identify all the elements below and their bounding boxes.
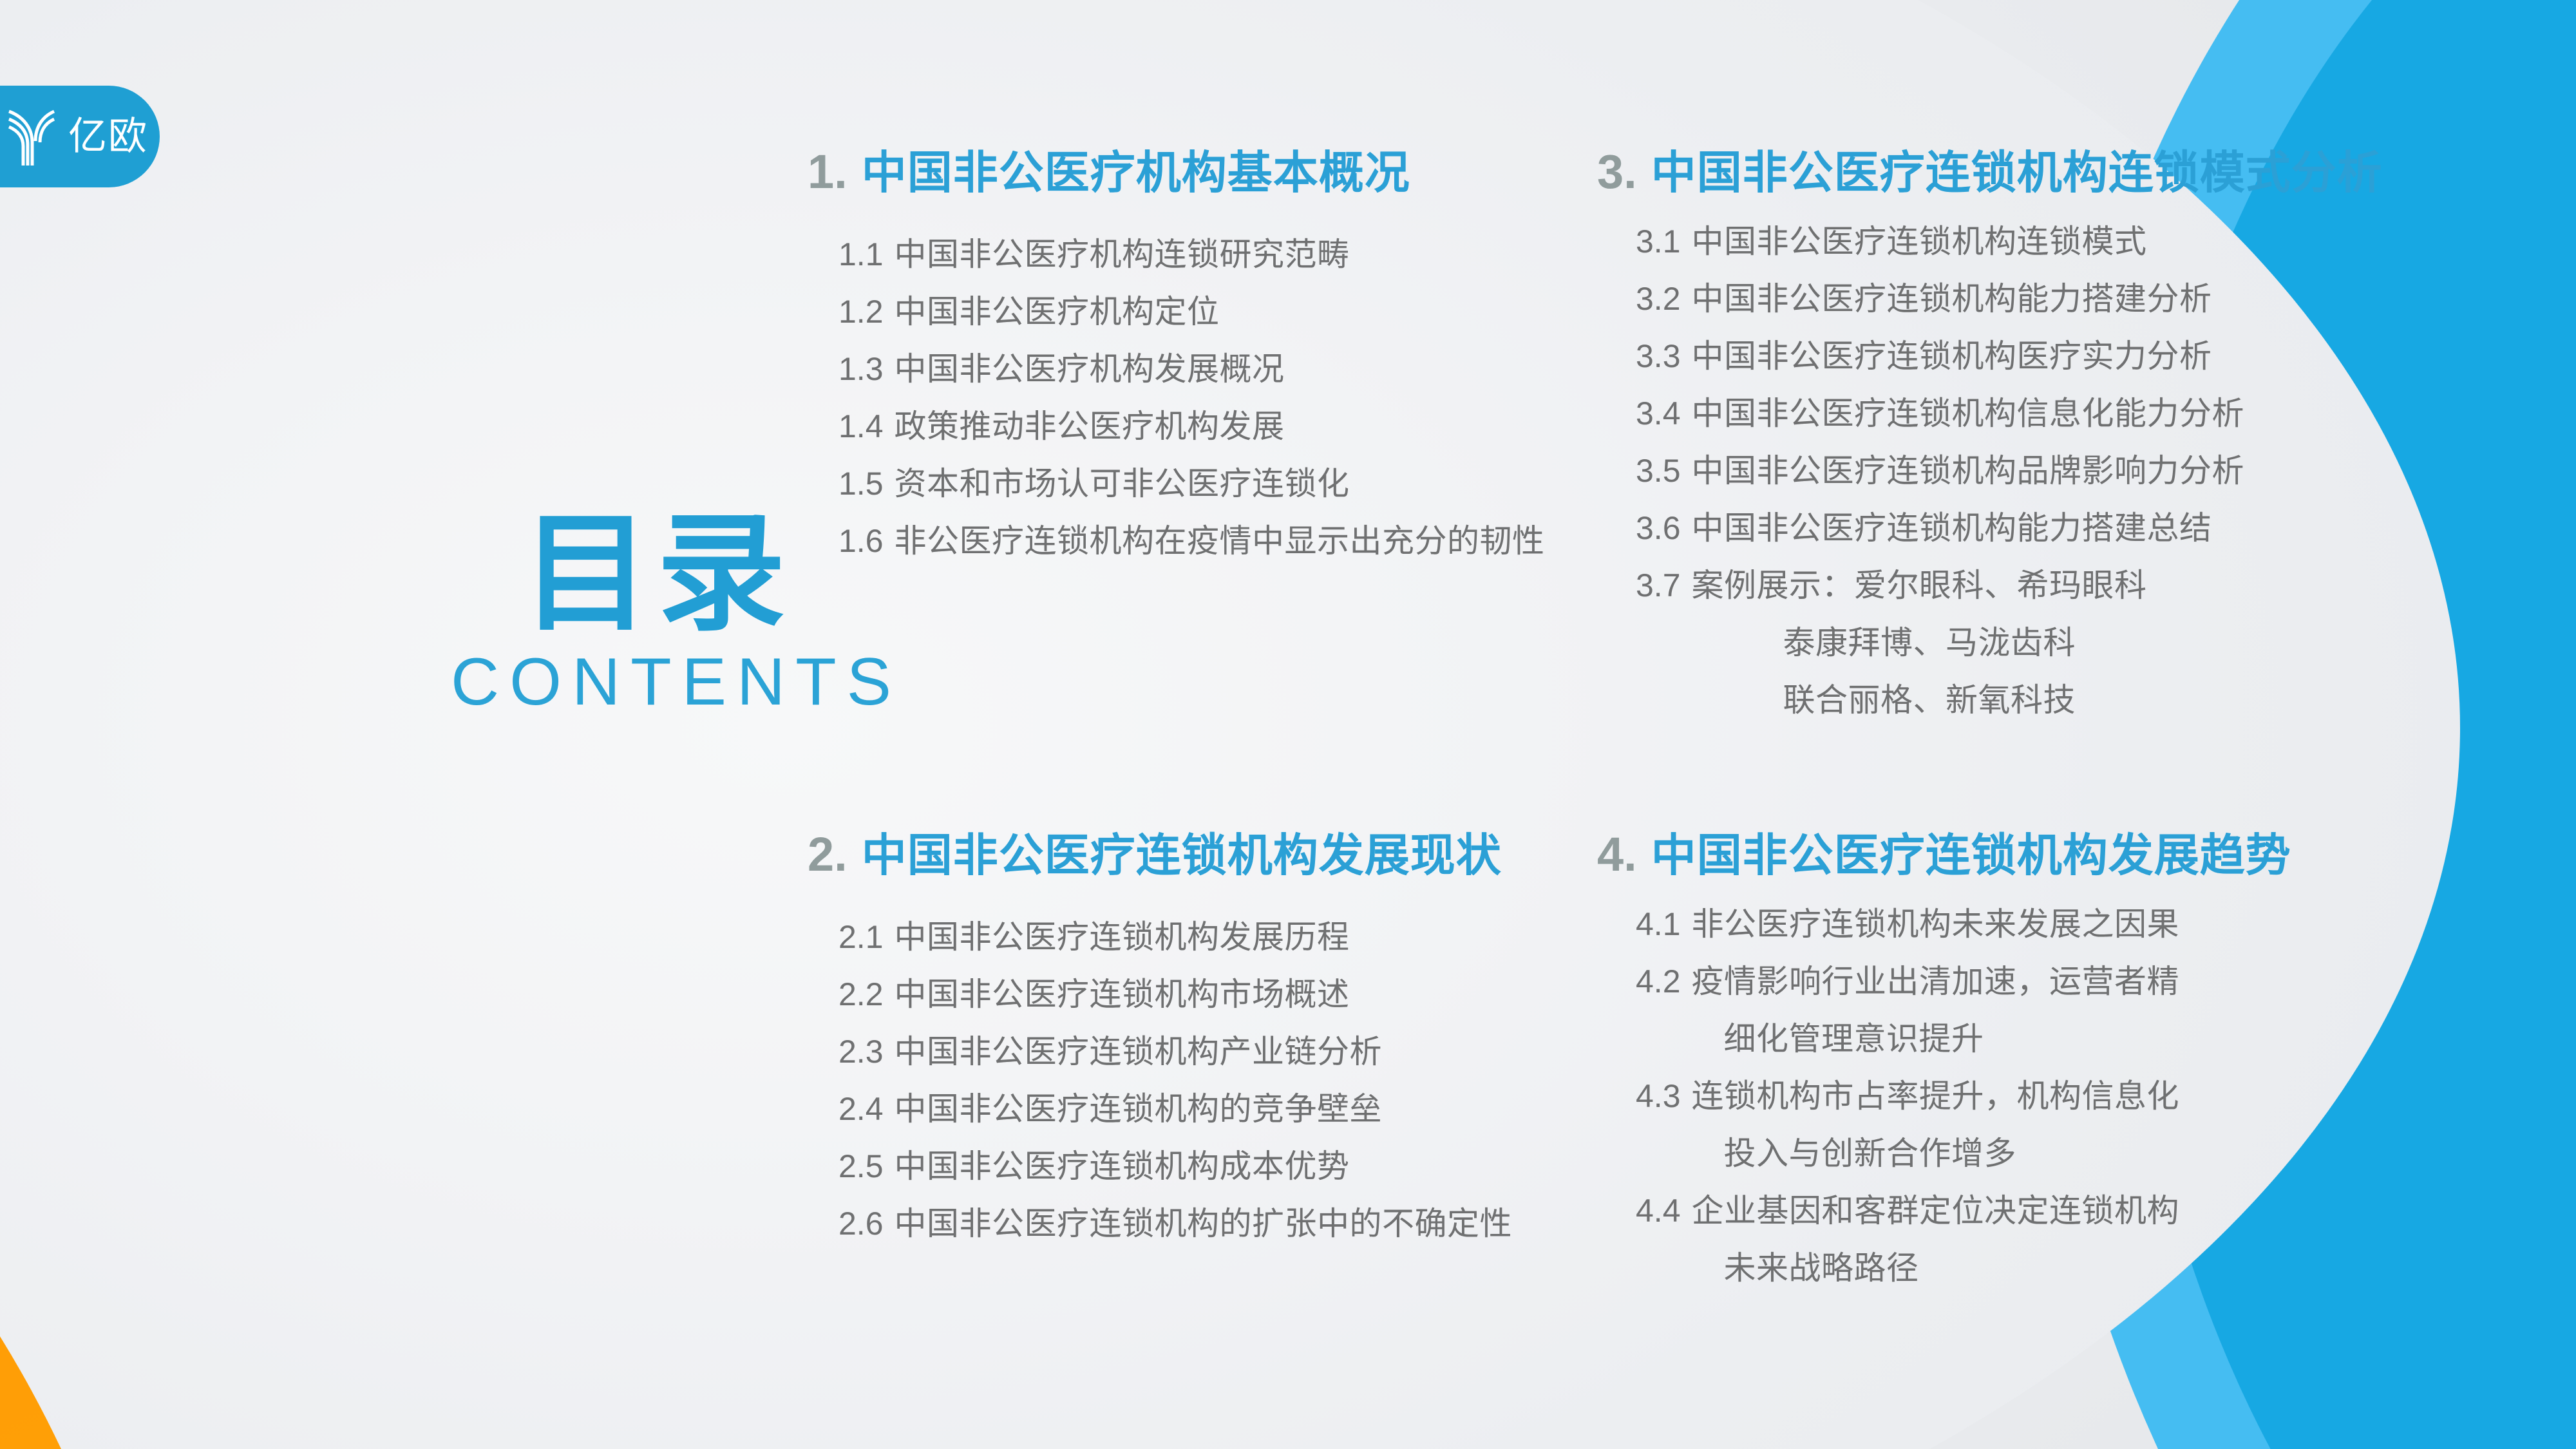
toc-item-continuation: 投入与创新合作增多 <box>1692 1137 2180 1170</box>
section-number-1: 1. <box>808 148 848 196</box>
section-2-items: 2.1中国非公医疗连锁机构发展历程 2.2中国非公医疗连锁机构市场概述 2.3中… <box>786 921 1578 1240</box>
toc-item-label: 非公医疗连锁机构未来发展之因果 <box>1692 908 2180 940</box>
toc-item-label: 中国非公医疗机构发展概况 <box>895 353 1285 385</box>
page-title-en: CONTENTS <box>451 645 863 719</box>
toc-item[interactable]: 2.5中国非公医疗连锁机构成本优势 <box>838 1150 1578 1182</box>
toc-item-label: 非公医疗连锁机构在疫情中显示出充分的韧性 <box>895 525 1545 557</box>
toc-item[interactable]: 2.1中国非公医疗连锁机构发展历程 <box>838 921 1578 953</box>
toc-item[interactable]: 4.2 疫情影响行业出清加速，运营者精 细化管理意识提升 <box>1636 965 2434 1055</box>
toc-item-label: 中国非公医疗连锁机构成本优势 <box>895 1150 1350 1182</box>
section-1-items: 1.1中国非公医疗机构连锁研究范畴 1.2中国非公医疗机构定位 1.3中国非公医… <box>786 238 1578 557</box>
brand-logo-text: 亿欧 <box>68 117 148 156</box>
section-heading-1[interactable]: 1. 中国非公医疗机构基本概况 <box>808 148 1578 196</box>
toc-item-label: 中国非公医疗连锁机构市场概述 <box>895 978 1350 1010</box>
toc-item-number: 1.4 <box>838 410 884 442</box>
toc-item[interactable]: 1.2中国非公医疗机构定位 <box>838 296 1578 328</box>
background-arc-orange <box>0 881 180 1449</box>
toc-item-number: 3.3 <box>1636 340 1681 372</box>
toc-item[interactable]: 3.6中国非公医疗连锁机构能力搭建总结 <box>1636 512 2434 544</box>
toc-item-label: 中国非公医疗连锁机构信息化能力分析 <box>1692 397 2245 430</box>
brand-logo[interactable]: 亿欧 <box>0 86 160 187</box>
contents-slide: 亿欧 目录 CONTENTS 1. 中国非公医疗机构基本概况 1.1中国非公医疗… <box>0 0 2576 1449</box>
toc-item-label: 中国非公医疗连锁机构发展历程 <box>895 921 1350 953</box>
toc-item-number: 1.5 <box>838 468 884 500</box>
toc-item[interactable]: 2.4中国非公医疗连锁机构的竞争壁垒 <box>838 1093 1578 1125</box>
toc-item-number: 1.2 <box>838 296 884 328</box>
section-heading-4[interactable]: 4. 中国非公医疗连锁机构发展趋势 <box>1597 831 2434 878</box>
toc-item-number: 1.1 <box>838 238 884 270</box>
toc-item-label: 中国非公医疗连锁机构能力搭建分析 <box>1692 283 2212 315</box>
toc-item-continuation: 未来战略路径 <box>1692 1252 2180 1284</box>
toc-item-multiline: 疫情影响行业出清加速，运营者精 细化管理意识提升 <box>1692 965 2180 1055</box>
toc-item-label: 中国非公医疗机构连锁研究范畴 <box>895 238 1350 270</box>
toc-item-number: 3.7 <box>1636 569 1681 601</box>
toc-item-number: 2.4 <box>838 1093 884 1125</box>
toc-item-number: 4.4 <box>1636 1195 1681 1227</box>
toc-item[interactable]: 1.6非公医疗连锁机构在疫情中显示出充分的韧性 <box>838 525 1578 557</box>
section-number-3: 3. <box>1597 148 1637 196</box>
toc-item-number: 4.1 <box>1636 908 1681 940</box>
toc-item-label: 中国非公医疗连锁机构品牌影响力分析 <box>1692 455 2245 487</box>
section-title-2: 中国非公医疗连锁机构发展现状 <box>862 833 1502 878</box>
toc-item-label: 中国非公医疗连锁机构的竞争壁垒 <box>895 1093 1383 1125</box>
toc-item-label: 疫情影响行业出清加速，运营者精 <box>1692 965 2180 998</box>
section-number-2: 2. <box>808 831 848 878</box>
toc-item-multiline: 连锁机构市占率提升，机构信息化 投入与创新合作增多 <box>1692 1080 2180 1170</box>
section-number-4: 4. <box>1597 831 1637 878</box>
toc-item-number: 3.4 <box>1636 397 1681 430</box>
toc-item-number: 1.3 <box>838 353 884 385</box>
section-3-items: 3.1中国非公医疗连锁机构连锁模式 3.2中国非公医疗连锁机构能力搭建分析 3.… <box>1597 225 2434 716</box>
toc-item-label: 中国非公医疗连锁机构产业链分析 <box>895 1036 1383 1068</box>
toc-item[interactable]: 4.3 连锁机构市占率提升，机构信息化 投入与创新合作增多 <box>1636 1080 2434 1170</box>
toc-item[interactable]: 1.1中国非公医疗机构连锁研究范畴 <box>838 238 1578 270</box>
toc-item-label: 中国非公医疗连锁机构的扩张中的不确定性 <box>895 1207 1513 1240</box>
toc-section-4: 4. 中国非公医疗连锁机构发展趋势 4.1非公医疗连锁机构未来发展之因果 4.2… <box>1597 831 2434 1309</box>
toc-item[interactable]: 1.5资本和市场认可非公医疗连锁化 <box>838 468 1578 500</box>
toc-item[interactable]: 3.3中国非公医疗连锁机构医疗实力分析 <box>1636 340 2434 372</box>
toc-item-label: 中国非公医疗连锁机构医疗实力分析 <box>1692 340 2212 372</box>
toc-section-1: 1. 中国非公医疗机构基本概况 1.1中国非公医疗机构连锁研究范畴 1.2中国非… <box>786 148 1578 582</box>
section-title-1: 中国非公医疗机构基本概况 <box>862 150 1410 195</box>
toc-item-number: 3.2 <box>1636 283 1681 315</box>
toc-item[interactable]: 2.6中国非公医疗连锁机构的扩张中的不确定性 <box>838 1207 1578 1240</box>
section-heading-2[interactable]: 2. 中国非公医疗连锁机构发展现状 <box>808 831 1578 878</box>
section-title-3: 中国非公医疗连锁机构连锁模式分析 <box>1651 150 2383 195</box>
toc-item-number: 3.6 <box>1636 512 1681 544</box>
toc-item-label: 案例展示：爱尔眼科、希玛眼科 <box>1692 569 2147 601</box>
toc-item-number: 1.6 <box>838 525 884 557</box>
toc-item-continuation: 泰康拜博、马泷齿科 <box>1692 627 2147 659</box>
toc-item[interactable]: 3.7 案例展示：爱尔眼科、希玛眼科 泰康拜博、马泷齿科 联合丽格、新氧科技 <box>1636 569 2434 716</box>
toc-item[interactable]: 1.4政策推动非公医疗机构发展 <box>838 410 1578 442</box>
toc-item[interactable]: 2.3中国非公医疗连锁机构产业链分析 <box>838 1036 1578 1068</box>
toc-item[interactable]: 3.4中国非公医疗连锁机构信息化能力分析 <box>1636 397 2434 430</box>
toc-section-2: 2. 中国非公医疗连锁机构发展现状 2.1中国非公医疗连锁机构发展历程 2.2中… <box>786 831 1578 1265</box>
toc-item-label: 中国非公医疗机构定位 <box>895 296 1220 328</box>
background-arc-orange-back <box>0 857 135 1449</box>
toc-item[interactable]: 2.2中国非公医疗连锁机构市场概述 <box>838 978 1578 1010</box>
toc-item-label: 资本和市场认可非公医疗连锁化 <box>895 468 1350 500</box>
toc-item-number: 4.3 <box>1636 1080 1681 1112</box>
toc-item[interactable]: 1.3中国非公医疗机构发展概况 <box>838 353 1578 385</box>
yiou-tree-logo-icon <box>6 106 57 167</box>
section-4-items: 4.1非公医疗连锁机构未来发展之因果 4.2 疫情影响行业出清加速，运营者精 细… <box>1597 908 2434 1284</box>
toc-item-number: 2.6 <box>838 1207 884 1240</box>
toc-item[interactable]: 3.1中国非公医疗连锁机构连锁模式 <box>1636 225 2434 258</box>
toc-item-number: 3.1 <box>1636 225 1681 258</box>
toc-item-continuation: 细化管理意识提升 <box>1692 1023 2180 1055</box>
toc-item-label: 政策推动非公医疗机构发展 <box>895 410 1285 442</box>
toc-item-label: 中国非公医疗连锁机构能力搭建总结 <box>1692 512 2212 544</box>
toc-item[interactable]: 4.4 企业基因和客群定位决定连锁机构 未来战略路径 <box>1636 1195 2434 1284</box>
toc-item[interactable]: 3.2中国非公医疗连锁机构能力搭建分析 <box>1636 283 2434 315</box>
section-title-4: 中国非公医疗连锁机构发展趋势 <box>1651 833 2291 878</box>
toc-item-number: 2.3 <box>838 1036 884 1068</box>
toc-item-label: 中国非公医疗连锁机构连锁模式 <box>1692 225 2147 258</box>
toc-item-label: 连锁机构市占率提升，机构信息化 <box>1692 1080 2180 1112</box>
toc-item-continuation: 联合丽格、新氧科技 <box>1692 684 2147 716</box>
toc-section-3: 3. 中国非公医疗连锁机构连锁模式分析 3.1中国非公医疗连锁机构连锁模式 3.… <box>1597 148 2434 741</box>
toc-item-multiline: 案例展示：爱尔眼科、希玛眼科 泰康拜博、马泷齿科 联合丽格、新氧科技 <box>1692 569 2147 716</box>
toc-item[interactable]: 3.5中国非公医疗连锁机构品牌影响力分析 <box>1636 455 2434 487</box>
toc-item-number: 2.2 <box>838 978 884 1010</box>
toc-item-multiline: 企业基因和客群定位决定连锁机构 未来战略路径 <box>1692 1195 2180 1284</box>
toc-item[interactable]: 4.1非公医疗连锁机构未来发展之因果 <box>1636 908 2434 940</box>
section-heading-3[interactable]: 3. 中国非公医疗连锁机构连锁模式分析 <box>1597 148 2434 196</box>
toc-item-number: 3.5 <box>1636 455 1681 487</box>
toc-item-number: 2.1 <box>838 921 884 953</box>
toc-item-number: 4.2 <box>1636 965 1681 998</box>
toc-item-label: 企业基因和客群定位决定连锁机构 <box>1692 1195 2180 1227</box>
toc-item-number: 2.5 <box>838 1150 884 1182</box>
